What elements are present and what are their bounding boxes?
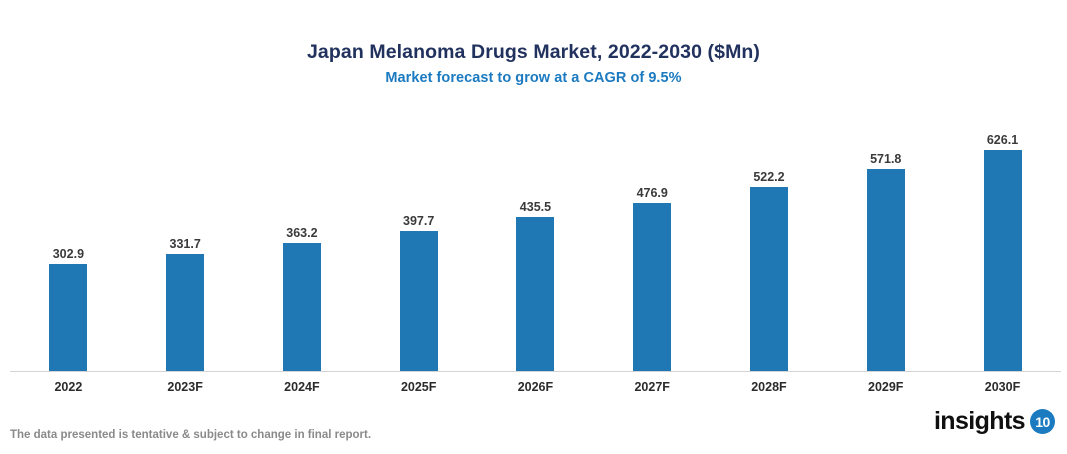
category-label: 2022 (54, 380, 82, 394)
category-label: 2024F (284, 380, 319, 394)
bar[interactable] (516, 217, 554, 371)
bar-slot: 363.2 (244, 120, 360, 371)
x-axis-line (10, 371, 1061, 372)
bar-value-label: 476.9 (637, 186, 668, 200)
logo-badge-icon: 10 (1030, 409, 1055, 434)
category-slot: 2026F (477, 378, 593, 396)
bar[interactable] (633, 203, 671, 371)
category-label: 2030F (985, 380, 1020, 394)
category-slot: 2027F (594, 378, 710, 396)
category-slot: 2025F (361, 378, 477, 396)
logo-wordmark: insights (934, 408, 1025, 435)
bar-slot: 476.9 (594, 120, 710, 371)
category-slot: 2022 (10, 378, 126, 396)
category-slot: 2029F (828, 378, 944, 396)
category-label: 2023F (167, 380, 202, 394)
category-label: 2025F (401, 380, 436, 394)
bar[interactable] (49, 264, 87, 371)
category-slot: 2030F (945, 378, 1061, 396)
bar[interactable] (283, 243, 321, 371)
bar-value-label: 363.2 (286, 226, 317, 240)
footer-note: The data presented is tentative & subjec… (10, 428, 371, 442)
bar-slot: 626.1 (945, 120, 1061, 371)
bar-slot: 397.7 (361, 120, 477, 371)
bar[interactable] (984, 150, 1022, 371)
bar-slot: 302.9 (10, 120, 126, 371)
bar-value-label: 435.5 (520, 200, 551, 214)
category-axis: 20222023F2024F2025F2026F2027F2028F2029F2… (10, 378, 1061, 396)
category-label: 2027F (634, 380, 669, 394)
bar[interactable] (750, 187, 788, 371)
category-slot: 2024F (244, 378, 360, 396)
bar-value-label: 626.1 (987, 133, 1018, 147)
insights10-logo: insights 10 (934, 408, 1055, 435)
plot-area: 302.9331.7363.2397.7435.5476.9522.2571.8… (0, 0, 1067, 454)
bar-value-label: 522.2 (753, 170, 784, 184)
category-label: 2029F (868, 380, 903, 394)
bar-value-label: 331.7 (170, 237, 201, 251)
category-label: 2028F (751, 380, 786, 394)
chart-container: Japan Melanoma Drugs Market, 2022-2030 (… (0, 0, 1067, 454)
bar-slot: 571.8 (828, 120, 944, 371)
bar-slot: 522.2 (711, 120, 827, 371)
bar-value-label: 397.7 (403, 214, 434, 228)
category-slot: 2023F (127, 378, 243, 396)
bar-slot: 435.5 (477, 120, 593, 371)
bar-slot: 331.7 (127, 120, 243, 371)
bar-value-label: 302.9 (53, 247, 84, 261)
bar[interactable] (867, 169, 905, 371)
bar[interactable] (400, 231, 438, 371)
bar[interactable] (166, 254, 204, 371)
category-label: 2026F (518, 380, 553, 394)
bar-value-label: 571.8 (870, 152, 901, 166)
category-slot: 2028F (711, 378, 827, 396)
bars-layer: 302.9331.7363.2397.7435.5476.9522.2571.8… (10, 120, 1061, 371)
